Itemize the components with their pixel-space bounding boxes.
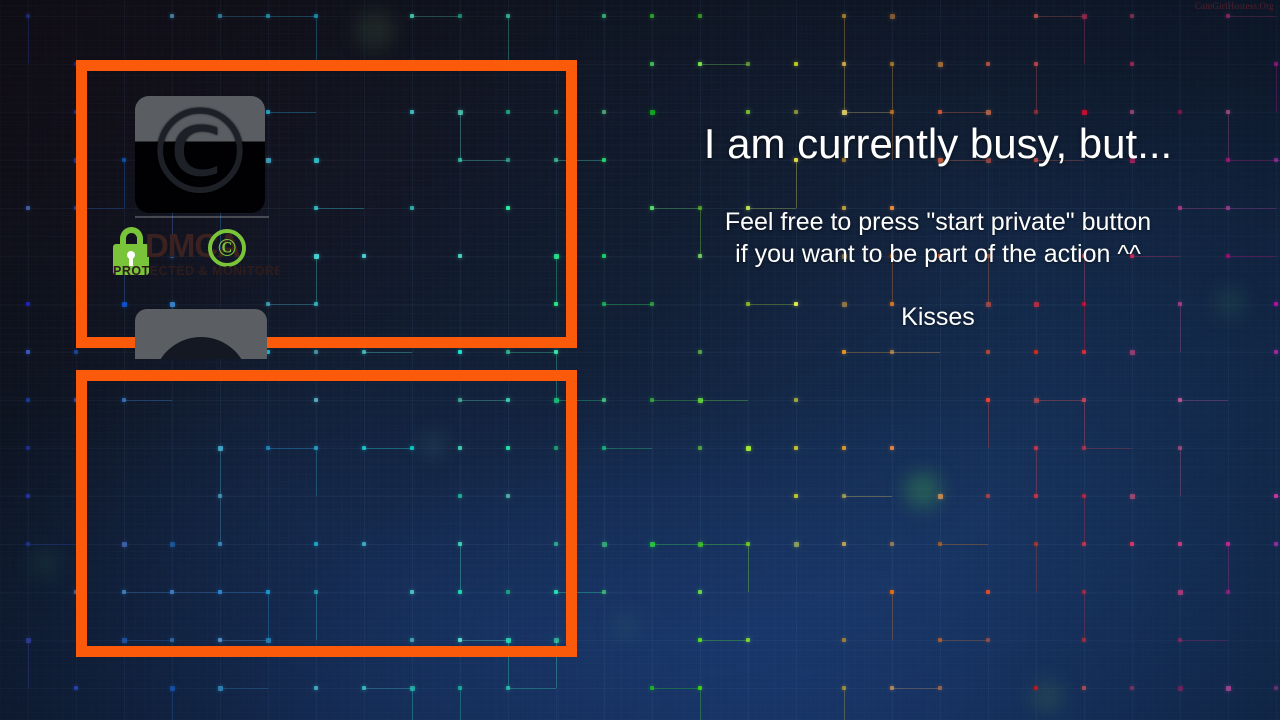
grid-dot (746, 62, 750, 66)
grid-dot (794, 62, 798, 66)
screen-stage: © DMCA © PROTECTED & MONITORED I am curr… (0, 0, 1280, 720)
grid-dot (746, 446, 751, 451)
grid-dot (746, 638, 750, 642)
grid-dot (26, 302, 30, 306)
grid-dot (314, 686, 318, 690)
grid-connector (268, 16, 316, 17)
copyright-tile-icon: © (135, 96, 265, 213)
grid-connector (1228, 208, 1276, 209)
grid-dot (1130, 14, 1134, 18)
grid-connector (700, 400, 748, 401)
media-panel-top[interactable]: © DMCA © PROTECTED & MONITORED (76, 60, 577, 348)
grid-connector (1276, 160, 1280, 161)
grid-dot (74, 686, 78, 690)
grid-connector (172, 688, 173, 720)
grid-connector (1084, 496, 1085, 544)
grid-dot (170, 14, 174, 18)
grid-dot (1130, 350, 1135, 355)
grid-dot (1178, 542, 1182, 546)
grid-connector (700, 640, 748, 641)
grid-dot (1274, 686, 1278, 690)
grid-connector (892, 64, 893, 112)
watermark-divider (135, 216, 269, 218)
grid-dot (1178, 110, 1182, 114)
dmca-subtitle: PROTECTED & MONITORED (113, 264, 279, 278)
grid-dot (698, 350, 702, 354)
grid-dot (794, 398, 798, 402)
grid-connector (1180, 400, 1228, 401)
grid-connector (700, 64, 748, 65)
grid-connector (412, 688, 413, 720)
grid-dot (986, 494, 990, 498)
grid-connector (1084, 16, 1085, 64)
grid-dot (698, 446, 702, 450)
grid-connector (1036, 64, 1037, 112)
grid-connector (1084, 448, 1132, 449)
grid-connector (1084, 400, 1085, 448)
grid-connector (652, 400, 700, 401)
grid-connector (1228, 160, 1276, 161)
grid-connector (940, 640, 988, 641)
grid-dot (794, 542, 799, 547)
grid-connector (844, 112, 892, 113)
grid-connector (1036, 16, 1084, 17)
grid-connector (652, 688, 700, 689)
grid-dot (1082, 350, 1086, 354)
grid-dot (1082, 686, 1086, 690)
grid-connector (220, 16, 268, 17)
grid-dot (1130, 110, 1134, 114)
grid-dot (74, 350, 78, 354)
grid-dot (650, 14, 654, 18)
grid-dot (1130, 542, 1134, 546)
grid-dot (986, 638, 990, 642)
message-body-line-2: if you want to be part of the action ^^ (688, 238, 1188, 270)
grid-dot (314, 350, 318, 354)
grid-dot (650, 302, 654, 306)
grid-dot (1178, 686, 1183, 691)
grid-dot (1034, 110, 1038, 114)
grid-connector (1084, 592, 1085, 640)
grid-connector (844, 496, 892, 497)
grid-connector (892, 352, 940, 353)
grid-dot (890, 14, 895, 19)
grid-connector (1036, 400, 1084, 401)
grid-dot (1274, 302, 1278, 306)
grid-connector (604, 448, 652, 449)
grid-connector (364, 352, 412, 353)
media-panel-bottom[interactable] (76, 370, 577, 657)
grid-connector (28, 544, 76, 545)
grid-dot (1082, 542, 1086, 546)
grid-connector (1036, 544, 1037, 592)
grid-dot (890, 446, 894, 450)
grid-dot (1130, 686, 1134, 690)
grid-connector (988, 400, 989, 448)
grid-dot (26, 494, 30, 498)
grid-dot (842, 542, 846, 546)
grid-connector (1228, 256, 1276, 257)
grid-dot (794, 110, 798, 114)
grid-dot (890, 542, 894, 546)
dmca-copyright-icon: © (208, 229, 246, 267)
grid-dot (458, 14, 462, 18)
grid-dot (986, 62, 990, 66)
grid-connector (844, 64, 845, 112)
message-signature: Kisses (688, 302, 1188, 332)
grid-connector (700, 688, 701, 720)
grid-dot (986, 590, 990, 594)
grid-dot (1130, 494, 1135, 499)
grid-dot (26, 398, 30, 402)
grid-dot (26, 446, 30, 450)
grid-dot (1034, 350, 1038, 354)
dmca-watermark-cluster: © DMCA © PROTECTED & MONITORED (99, 83, 279, 359)
grid-connector (940, 544, 988, 545)
grid-dot (698, 590, 702, 594)
site-watermark: CamGirlHostess.Org (1195, 1, 1274, 11)
grid-connector (700, 544, 748, 545)
grid-connector (1036, 448, 1037, 496)
grid-dot (1034, 494, 1038, 498)
grid-dot (602, 110, 606, 114)
grid-dot (1130, 62, 1134, 66)
grid-dot (1082, 638, 1086, 642)
page-title: I am currently busy, but... (688, 120, 1188, 167)
grid-dot (1178, 590, 1183, 595)
grid-dot (602, 542, 607, 547)
grid-connector (28, 16, 29, 64)
grid-connector (844, 352, 892, 353)
grid-dot (1274, 350, 1278, 354)
clipped-badge-shape (135, 309, 267, 359)
status-message: I am currently busy, but... Feel free to… (688, 120, 1188, 332)
grid-dot (1274, 542, 1278, 546)
grid-dot (650, 110, 655, 115)
grid-dot (794, 494, 798, 498)
grid-connector (28, 640, 29, 688)
grid-connector (844, 688, 845, 720)
message-body-line-1: Feel free to press "start private" butto… (688, 206, 1188, 238)
grid-dot (986, 110, 991, 115)
grid-connector (652, 544, 700, 545)
grid-dot (938, 62, 943, 67)
grid-connector (1228, 16, 1276, 17)
grid-dot (746, 110, 750, 114)
grid-connector (364, 688, 412, 689)
grid-dot (842, 638, 846, 642)
grid-dot (602, 254, 606, 258)
grid-dot (986, 350, 990, 354)
grid-dot (698, 14, 702, 18)
grid-connector (1276, 64, 1277, 112)
grid-dot (794, 446, 798, 450)
grid-connector (892, 592, 893, 640)
grid-dot (458, 350, 462, 354)
grid-connector (412, 16, 460, 17)
grid-connector (220, 688, 268, 689)
grid-dot (938, 494, 943, 499)
grid-connector (508, 352, 556, 353)
grid-connector (460, 688, 461, 720)
grid-connector (1180, 640, 1228, 641)
grid-dot (1226, 686, 1231, 691)
grid-connector (604, 304, 652, 305)
grid-dot (26, 206, 30, 210)
dmca-badge: DMCA © PROTECTED & MONITORED (113, 221, 279, 283)
grid-connector (748, 544, 749, 592)
grid-dot (1226, 590, 1230, 594)
grid-connector (1276, 496, 1280, 497)
copyright-glyph: © (141, 96, 259, 211)
grid-dot (602, 398, 606, 402)
grid-connector (1228, 544, 1229, 592)
grid-dot (26, 350, 30, 354)
grid-dot (1082, 110, 1087, 115)
grid-connector (844, 16, 845, 64)
grid-connector (1180, 448, 1181, 496)
grid-connector (508, 16, 509, 64)
grid-connector (892, 688, 940, 689)
grid-connector (508, 688, 556, 689)
grid-dot (650, 62, 654, 66)
grid-dot (602, 14, 606, 18)
grid-connector (316, 16, 317, 64)
grid-dot (602, 590, 606, 594)
grid-dot (938, 686, 942, 690)
grid-dot (842, 446, 846, 450)
grid-dot (1034, 686, 1038, 690)
grid-connector (940, 112, 988, 113)
grid-connector (1228, 112, 1229, 160)
grid-dot (602, 158, 606, 162)
